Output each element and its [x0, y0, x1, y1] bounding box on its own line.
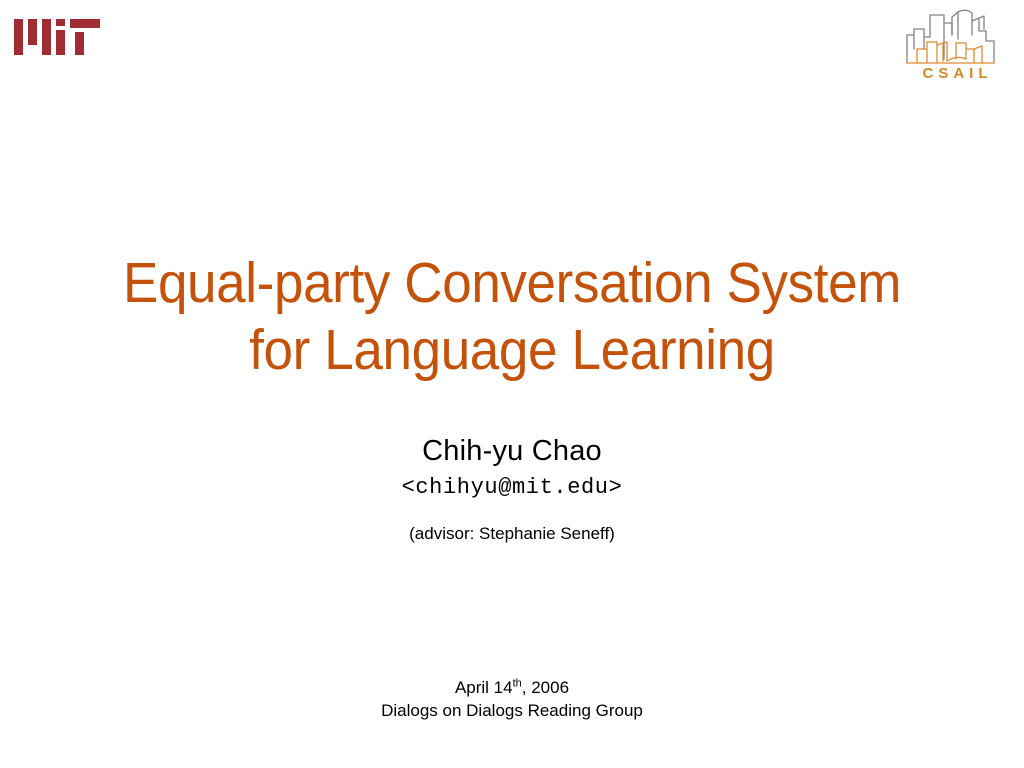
- mit-logo: [14, 9, 90, 55]
- footer-block: April 14th, 2006 Dialogs on Dialogs Read…: [0, 676, 1024, 722]
- mit-logo-i-dot: [56, 19, 65, 26]
- mit-logo-t-crossbar: [70, 19, 100, 28]
- presentation-date-prefix: April 14: [455, 678, 513, 697]
- mit-logo-i-stem: [56, 30, 65, 55]
- mit-logo-bar-m-left: [14, 19, 23, 55]
- author-email: <chihyu@mit.edu>: [0, 474, 1024, 502]
- author-block: Chih-yu Chao <chihyu@mit.edu> (advisor: …: [0, 433, 1024, 545]
- csail-skyline-icon: [900, 5, 1010, 67]
- presentation-date-suffix: , 2006: [522, 678, 569, 697]
- author-name: Chih-yu Chao: [0, 433, 1024, 469]
- mit-logo-bar-m-middle: [28, 19, 37, 45]
- slide-title-line-1: Equal-party Conversation System: [36, 250, 988, 317]
- slide-title: Equal-party Conversation System for Lang…: [0, 250, 1024, 384]
- title-slide: CSAIL Equal-party Conversation System fo…: [0, 0, 1024, 768]
- presentation-venue: Dialogs on Dialogs Reading Group: [0, 699, 1024, 722]
- presentation-date-ordinal: th: [513, 677, 522, 689]
- csail-wordmark: CSAIL: [900, 65, 1010, 82]
- presentation-date: April 14th, 2006: [0, 676, 1024, 699]
- mit-logo-bar-m-right: [42, 19, 51, 55]
- mit-logo-t-stem: [75, 32, 84, 55]
- author-advisor: (advisor: Stephanie Seneff): [0, 523, 1024, 545]
- slide-title-line-2: for Language Learning: [36, 317, 988, 384]
- csail-logo: CSAIL: [900, 5, 1010, 91]
